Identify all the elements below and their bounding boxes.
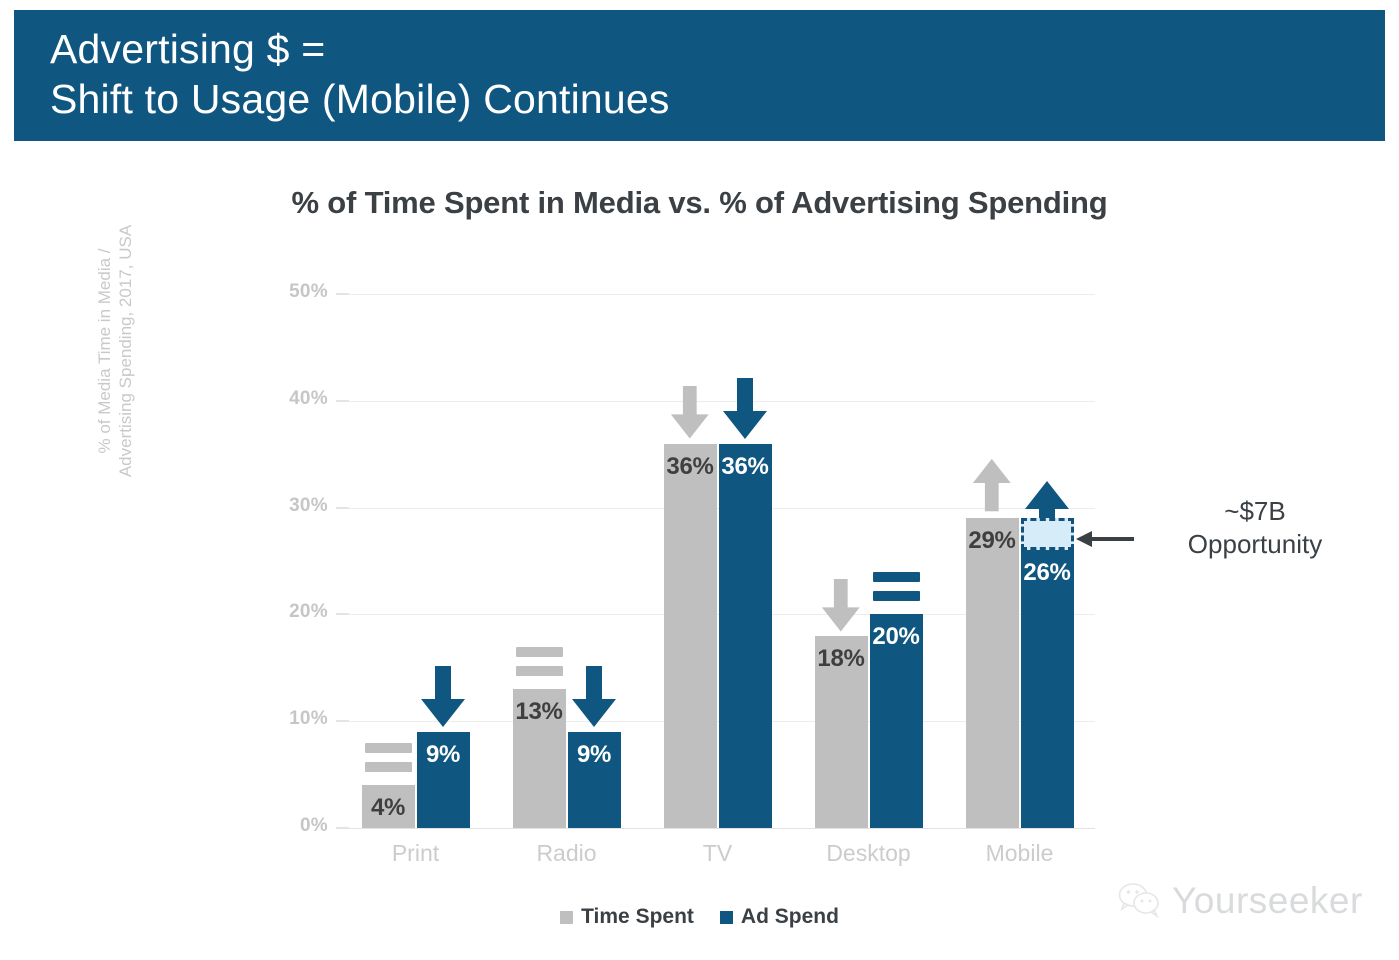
bar-tv-ad-spend[interactable]: 36%	[719, 444, 772, 828]
opportunity-annotation: ~$7B Opportunity	[1140, 495, 1370, 561]
x-axis-label-tv: TV	[643, 840, 793, 867]
bar-value-label: 29%	[966, 527, 1019, 555]
x-axis-label-desktop: Desktop	[794, 840, 944, 867]
indicator-equal-icon	[516, 647, 563, 676]
gridline	[340, 294, 1095, 295]
opportunity-box	[1021, 518, 1074, 550]
wechat-icon	[1118, 882, 1162, 920]
bar-value-label: 20%	[870, 623, 923, 651]
x-axis-label-radio: Radio	[492, 840, 642, 867]
gridline	[340, 401, 1095, 402]
y-tick-label: 50%	[272, 281, 328, 303]
indicator-arrow-down-icon	[670, 386, 710, 439]
legend-label-ad-spend: Ad Spend	[741, 905, 839, 929]
bar-value-label: 36%	[664, 453, 717, 481]
y-tick-mark	[336, 720, 349, 722]
bar-radio-time-spent[interactable]: 13%	[513, 689, 566, 828]
bar-value-label: 4%	[362, 794, 415, 822]
indicator-equal-icon	[365, 743, 412, 772]
legend-swatch-ad-spend	[720, 911, 733, 924]
legend-label-time-spent: Time Spent	[581, 905, 694, 929]
bar-value-label: 9%	[568, 741, 621, 769]
y-tick-mark	[336, 293, 349, 295]
gridline	[340, 828, 1095, 829]
y-tick-label: 10%	[272, 708, 328, 730]
bar-desktop-ad-spend[interactable]: 20%	[870, 614, 923, 828]
indicator-arrow-down-icon	[571, 666, 617, 728]
bar-value-label: 9%	[417, 741, 470, 769]
indicator-arrow-down-icon	[420, 666, 466, 728]
bar-value-label: 36%	[719, 453, 772, 481]
chart-plot-area: 0%10%20%30%40%50%4%13%36%18%29%PrintRadi…	[0, 0, 1399, 960]
indicator-equal-icon	[873, 572, 920, 601]
legend-item-time-spent: Time Spent	[560, 905, 694, 929]
y-tick-mark	[336, 400, 349, 402]
legend-swatch-time-spent	[560, 911, 573, 924]
bar-tv-time-spent[interactable]: 36%	[664, 444, 717, 828]
indicator-arrow-down-icon	[821, 579, 861, 632]
bar-desktop-time-spent[interactable]: 18%	[815, 636, 868, 828]
bar-mobile-time-spent[interactable]: 29%	[966, 518, 1019, 828]
y-tick-label: 20%	[272, 601, 328, 623]
indicator-arrow-down-icon	[722, 378, 768, 440]
bar-value-label: 18%	[815, 645, 868, 673]
watermark: Yourseeker	[1118, 880, 1363, 922]
x-axis-label-mobile: Mobile	[945, 840, 1095, 867]
bar-radio-ad-spend[interactable]: 9%	[568, 732, 621, 828]
bar-value-label: 13%	[513, 698, 566, 726]
bar-mobile-ad-spend[interactable]: 26%	[1021, 550, 1074, 828]
legend-item-ad-spend: Ad Spend	[720, 905, 839, 929]
opportunity-label: Opportunity	[1140, 528, 1370, 561]
bar-print-time-spent[interactable]: 4%	[362, 785, 415, 828]
y-tick-mark	[336, 613, 349, 615]
opportunity-amount: ~$7B	[1140, 495, 1370, 528]
y-tick-mark	[336, 827, 349, 829]
y-tick-label: 30%	[272, 495, 328, 517]
watermark-text: Yourseeker	[1172, 880, 1363, 922]
y-tick-label: 0%	[272, 815, 328, 837]
indicator-arrow-up-icon	[972, 458, 1012, 511]
y-tick-mark	[336, 507, 349, 509]
bar-print-ad-spend[interactable]: 9%	[417, 732, 470, 828]
opportunity-arrow-icon	[1076, 528, 1136, 550]
x-axis-label-print: Print	[341, 840, 491, 867]
y-tick-label: 40%	[272, 388, 328, 410]
bar-value-label: 26%	[1021, 559, 1074, 587]
